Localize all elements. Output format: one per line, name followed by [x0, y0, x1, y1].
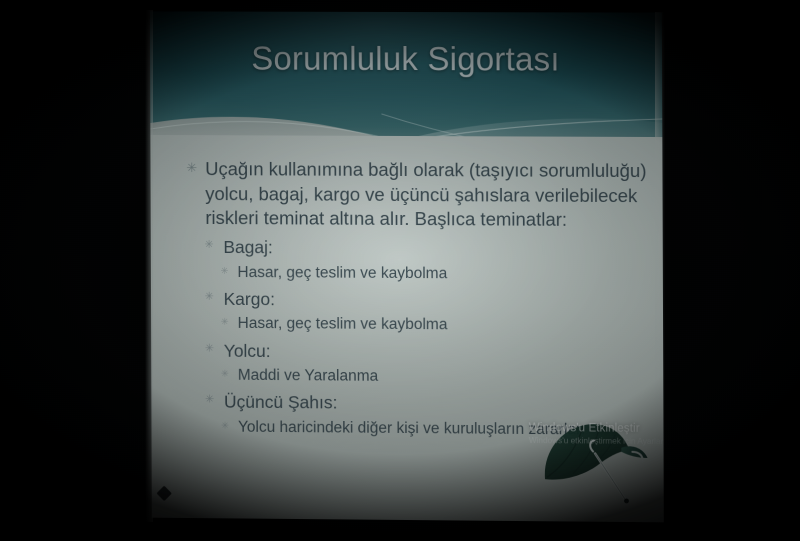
slide-canvas: Sorumluluk Sigortası	[150, 11, 664, 522]
bullet-text: Uçağın kullanımına bağlı olarak (taşıyıc…	[205, 157, 648, 233]
bullet-text: Maddi ve Yaralanma	[238, 366, 649, 389]
projected-slide-photo: Sorumluluk Sigortası	[0, 0, 800, 541]
list-item: ✳ Bagaj:	[204, 236, 648, 261]
list-item: ✳ Kargo:	[205, 287, 649, 313]
bullet-marker-icon: ✳	[221, 370, 229, 380]
bullet-text: Hasar, geç teslim ve kaybolma	[238, 314, 649, 337]
list-item: ✳ Hasar, geç teslim ve kaybolma	[221, 314, 649, 337]
bullet-text: Bagaj:	[223, 236, 648, 261]
bullet-text: Yolcu:	[224, 339, 649, 365]
bullet-list: ✳ Uçağın kullanımına bağlı olarak (taşıy…	[186, 157, 649, 441]
bullet-marker-icon: ✳	[220, 266, 228, 276]
umbrella-icon	[539, 407, 658, 504]
bullet-marker-icon: ✳	[204, 240, 213, 251]
bullet-text: Kargo:	[224, 288, 649, 313]
list-item: ✳ Yolcu:	[205, 339, 649, 365]
list-item: ✳ Hasar, geç teslim ve kaybolma	[220, 262, 648, 285]
slide: Sorumluluk Sigortası	[150, 11, 664, 522]
bullet-marker-icon: ✳	[205, 395, 214, 406]
bullet-text: Hasar, geç teslim ve kaybolma	[237, 263, 648, 286]
bullet-marker-icon: ✳	[205, 343, 214, 354]
bullet-marker-icon: ✳	[221, 318, 229, 328]
bullet-marker-icon: ✳	[186, 161, 197, 174]
bullet-content: ✳ Uçağın kullanımına bağlı olarak (taşıy…	[186, 157, 649, 441]
list-item: ✳ Uçağın kullanımına bağlı olarak (taşıy…	[186, 157, 648, 233]
bullet-marker-icon: ✳	[205, 291, 214, 302]
page-title: Sorumluluk Sigortası	[150, 39, 662, 79]
bullet-marker-icon: ✳	[221, 422, 229, 432]
list-item: ✳ Maddi ve Yaralanma	[221, 366, 649, 389]
